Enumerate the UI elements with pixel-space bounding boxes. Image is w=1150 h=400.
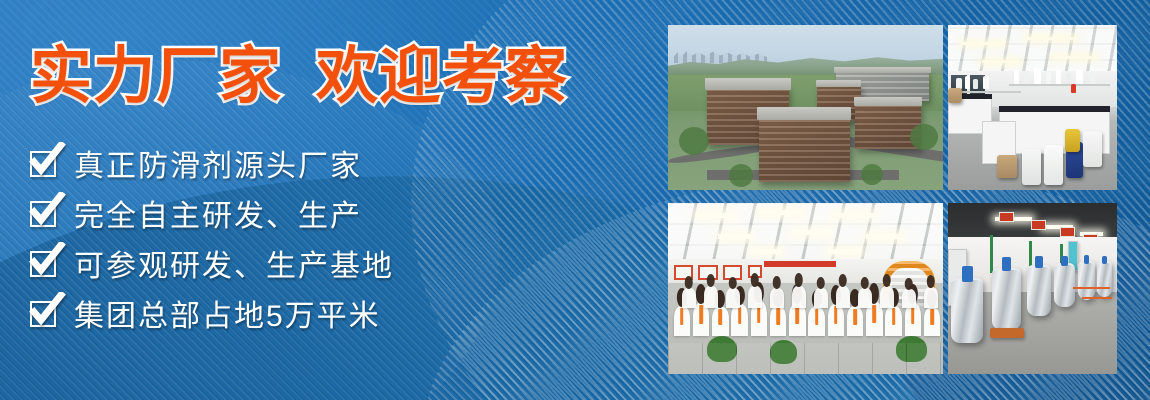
ceiling-light (833, 213, 874, 218)
safety-barrier (1073, 287, 1110, 289)
ceiling-light (718, 234, 751, 239)
ceiling-light (866, 234, 902, 239)
person (880, 286, 894, 308)
ceiling-light (696, 213, 735, 218)
ceiling-light (962, 42, 1006, 45)
office-staff-photo (668, 203, 943, 374)
list-item-label: 集团总部占地5万平米 (74, 291, 381, 335)
person (682, 288, 696, 309)
chemical-drum (1022, 149, 1041, 185)
list-item: 完全自主研发、生产 (30, 192, 394, 234)
person (847, 306, 864, 335)
person (814, 288, 828, 308)
warning-sign (1031, 220, 1046, 230)
list-item: 集团总部占地5万平米 (30, 292, 394, 334)
bench-top (999, 106, 1111, 113)
green-pipe (990, 235, 993, 273)
person (808, 307, 825, 336)
feature-list: 真正防滑剂源头厂家 完全自主研发、生产 可参观研发、生产基地 (30, 142, 394, 334)
list-item: 可参观研发、生产基地 (30, 242, 394, 284)
desk-row (668, 343, 943, 374)
person (770, 306, 787, 336)
reagent-bottle (1066, 73, 1071, 85)
photo-grid (668, 25, 1117, 374)
office-building (759, 116, 850, 182)
page-title: 实力厂家 欢迎考察 (30, 44, 568, 109)
chemical-drum (1065, 129, 1080, 152)
person (885, 306, 902, 336)
ceiling-light (759, 210, 803, 215)
person (704, 286, 718, 308)
factory-strength-banner: 实力厂家 欢迎考察 真正防滑剂源头厂家 完全自主研发、生产 (0, 0, 1150, 400)
list-item-label: 完全自主研发、生产 (74, 191, 362, 235)
reagent-bottle (1046, 71, 1051, 84)
reagent-bottle (965, 76, 970, 89)
reagent-bottle (1076, 70, 1083, 85)
ceiling-light (828, 249, 861, 254)
ceiling-light (982, 60, 1019, 63)
list-item-label: 可参观研发、生产基地 (74, 241, 394, 285)
mixing-tank (951, 278, 983, 343)
mixing-tank (1097, 261, 1112, 297)
reagent-bottle (1024, 71, 1029, 84)
warning-sign (999, 212, 1014, 222)
cardboard-box (948, 88, 962, 103)
ceiling (948, 25, 1117, 75)
reagent-bottle (983, 76, 988, 89)
tree (910, 124, 938, 150)
reagent-bottle (1014, 70, 1019, 85)
tree (861, 164, 883, 185)
mixing-tank (992, 268, 1021, 330)
chemical-drum (1083, 131, 1102, 167)
shelf (953, 91, 1021, 93)
pallet-trolley (990, 328, 1024, 338)
person (731, 304, 748, 335)
person (924, 307, 941, 336)
checkbox-checked-icon (30, 199, 58, 227)
headline-part-1: 实力厂家 (30, 44, 282, 109)
ceiling-light (1026, 37, 1077, 40)
person (748, 286, 762, 309)
tree (729, 164, 754, 187)
production-hall-photo (948, 203, 1117, 374)
reagent-bottle (1056, 70, 1061, 85)
copy-block: 实力厂家 欢迎考察 真正防滑剂源头厂家 完全自主研发、生产 (0, 0, 660, 400)
reagent-bottle (1090, 73, 1095, 85)
staff-crowd (668, 278, 943, 346)
person (674, 306, 691, 336)
reagent-bottle (1071, 84, 1076, 92)
cardboard-box (997, 155, 1017, 178)
person (770, 288, 784, 309)
warning-sign (1060, 227, 1075, 237)
checkbox-checked-icon (30, 149, 58, 177)
person (726, 288, 740, 308)
person (902, 289, 916, 308)
red-wall-banner (764, 261, 836, 267)
mixing-tank (1078, 261, 1095, 300)
ceiling-light (751, 249, 781, 254)
person (828, 304, 845, 336)
chemical-drum (1044, 145, 1063, 185)
person (712, 307, 729, 336)
person (858, 288, 872, 308)
laboratory-photo (948, 25, 1117, 190)
ceiling-light (792, 230, 831, 235)
person (792, 286, 806, 309)
ceiling-light (1053, 56, 1097, 59)
reagent-bottle (973, 79, 978, 89)
mixing-tank (1054, 263, 1074, 307)
list-item-label: 真正防滑剂源头厂家 (74, 141, 362, 185)
checkbox-checked-icon (30, 249, 58, 277)
checkbox-checked-icon (30, 299, 58, 327)
shelf (1009, 84, 1110, 86)
list-item: 真正防滑剂源头厂家 (30, 142, 394, 184)
safety-barrier (1082, 297, 1112, 299)
headline-part-2: 欢迎考察 (316, 44, 568, 109)
mixing-tank (1027, 265, 1051, 316)
aerial-campus-photo (668, 25, 943, 190)
reagent-bottle (1034, 68, 1041, 85)
person (924, 287, 938, 308)
person (836, 286, 850, 308)
